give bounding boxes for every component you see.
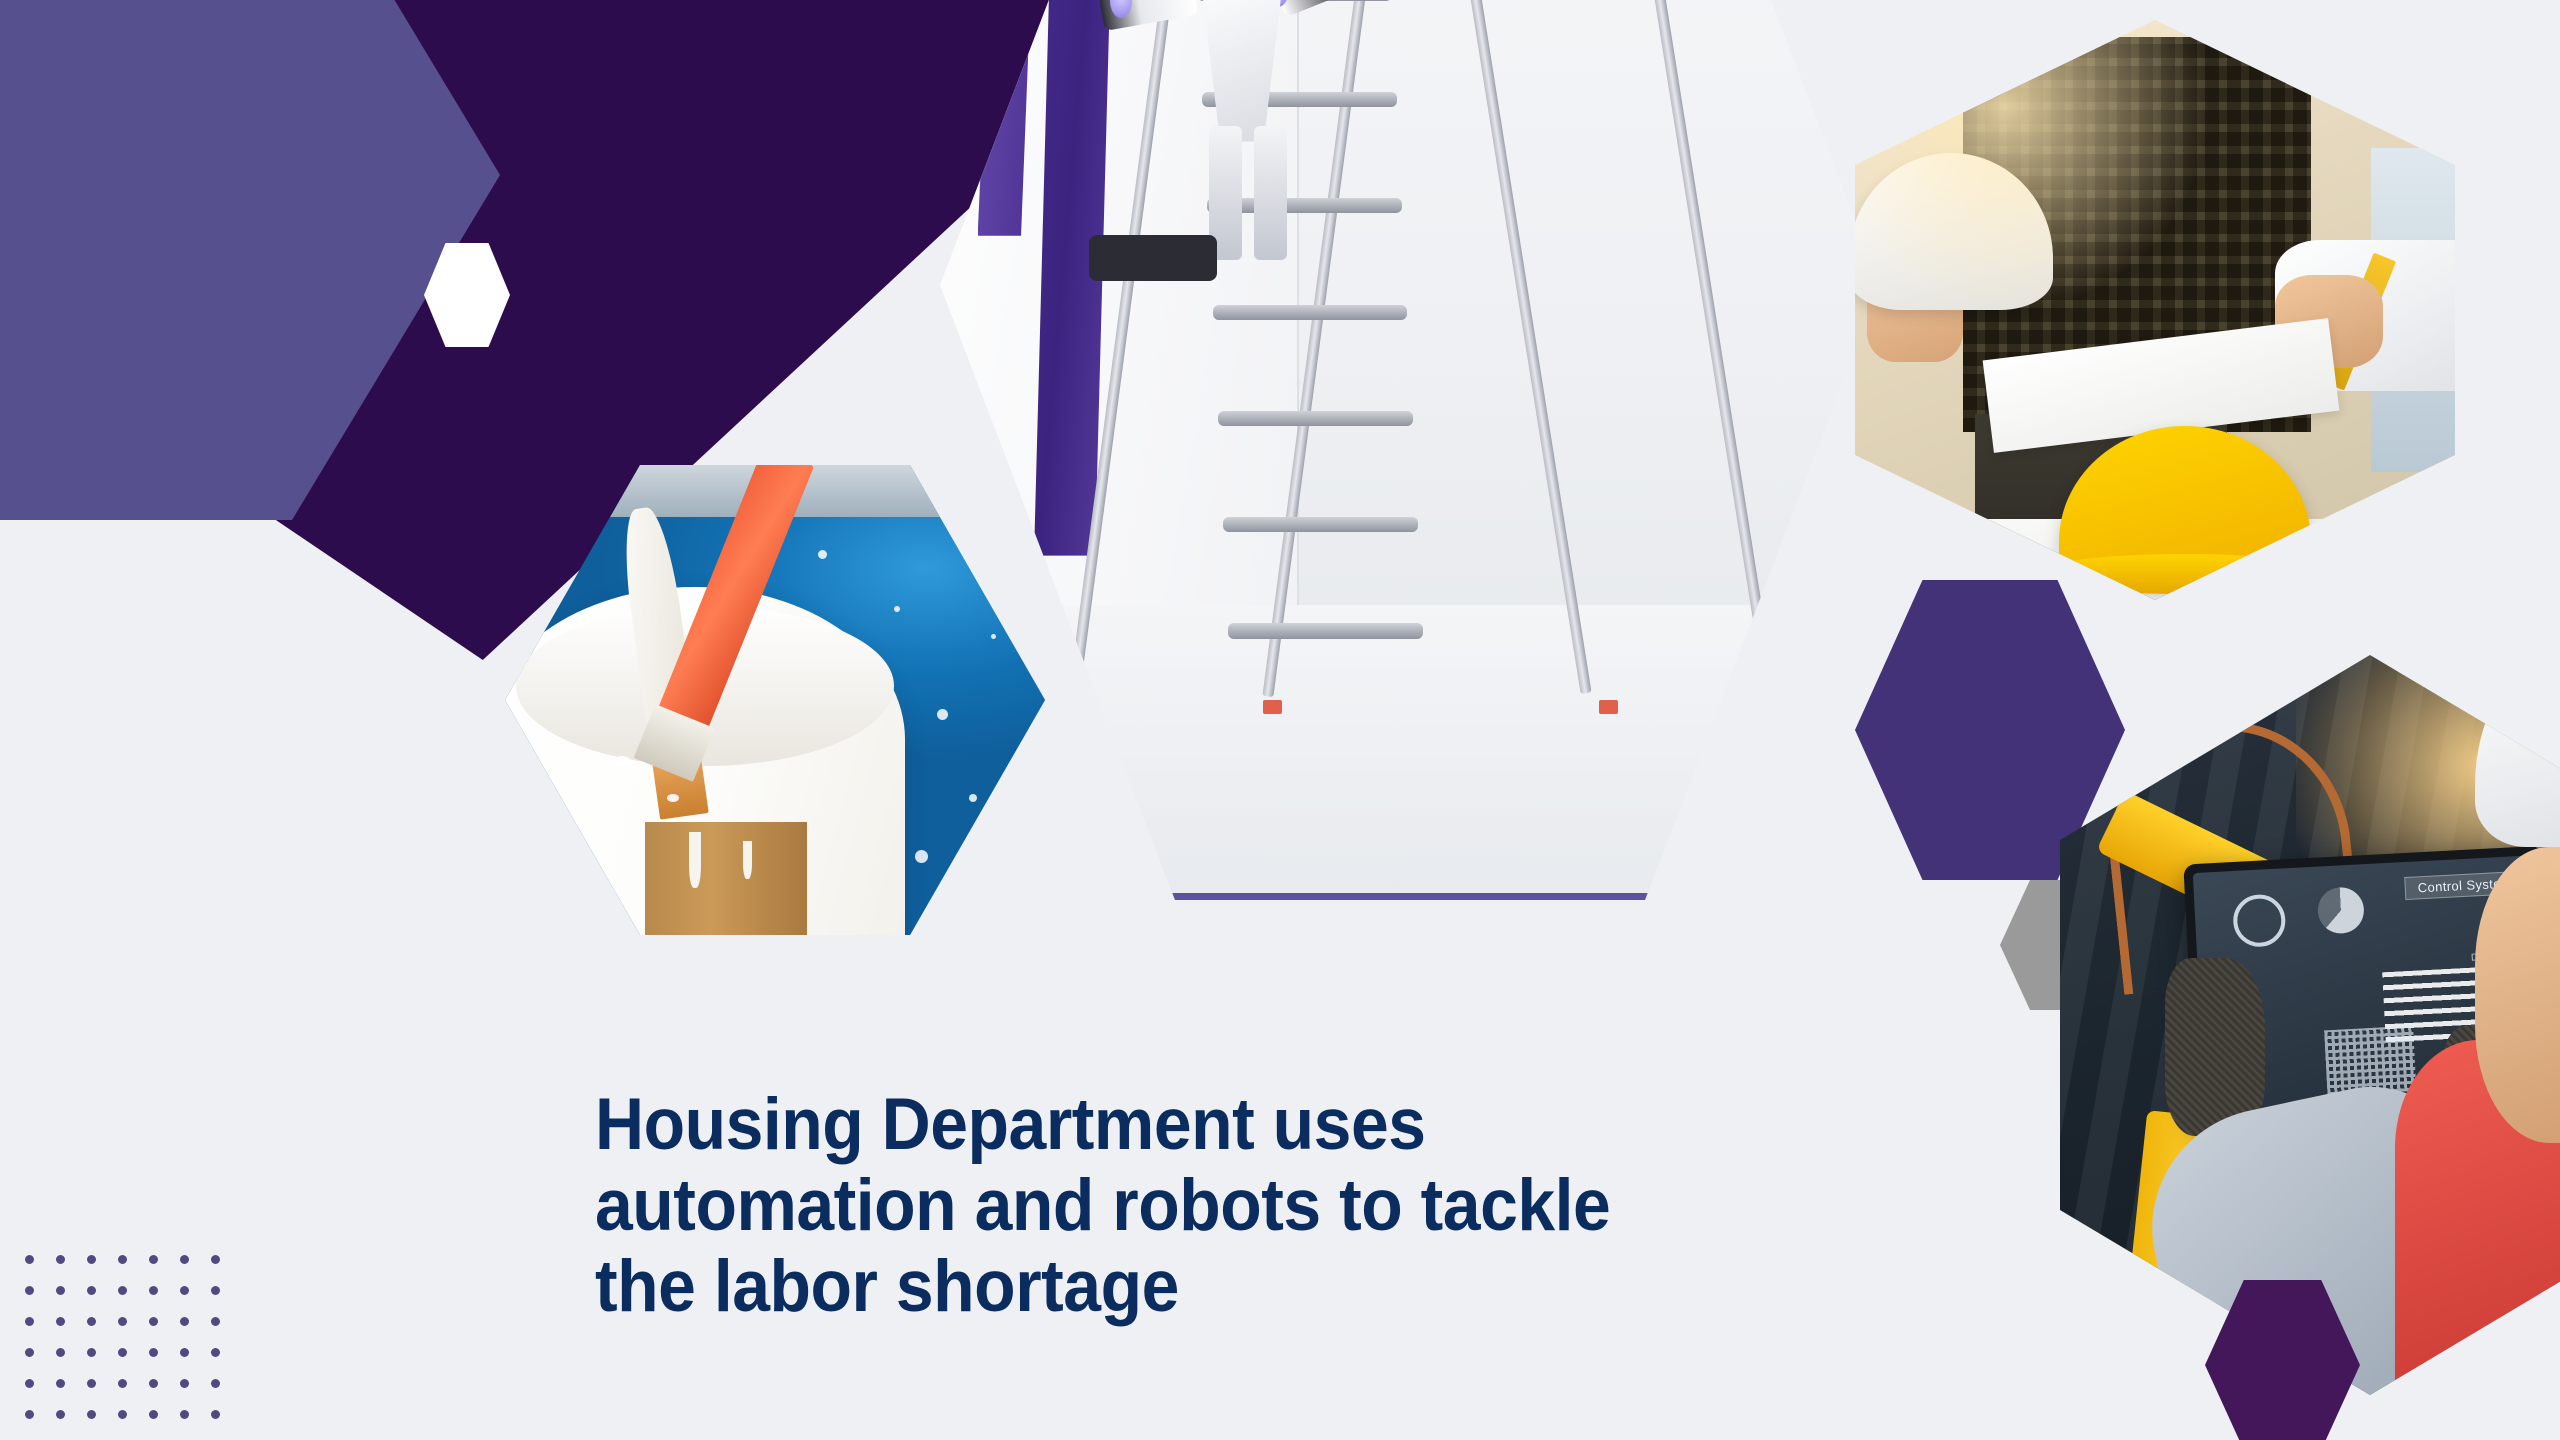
white-hard-hat-icon [2475,655,2560,847]
photo-robot-on-ladder [940,0,1880,900]
equalizer-graphic [2324,1026,2416,1095]
poster-canvas: Control System Pressure Duty Temp Housin… [0,0,2560,1440]
pie-chart-icon [2317,886,2365,934]
dot-grid-row [25,1379,242,1410]
page-title: Housing Department uses automation and r… [595,1084,1953,1327]
dot-grid-row [25,1410,242,1440]
dot-grid-row [25,1255,242,1286]
photo-workers-blueprints [1855,20,2455,600]
blueprint-review-illustration [1855,20,2455,600]
dot-grid-row [25,1317,242,1348]
dot-grid-pattern [25,1255,242,1440]
robot-ladder-illustration [940,0,1880,900]
dot-grid-row [25,1286,242,1317]
dot-grid-row [25,1348,242,1379]
gauge-icon [2232,893,2287,948]
construction-robot-graphic [1147,0,1354,260]
